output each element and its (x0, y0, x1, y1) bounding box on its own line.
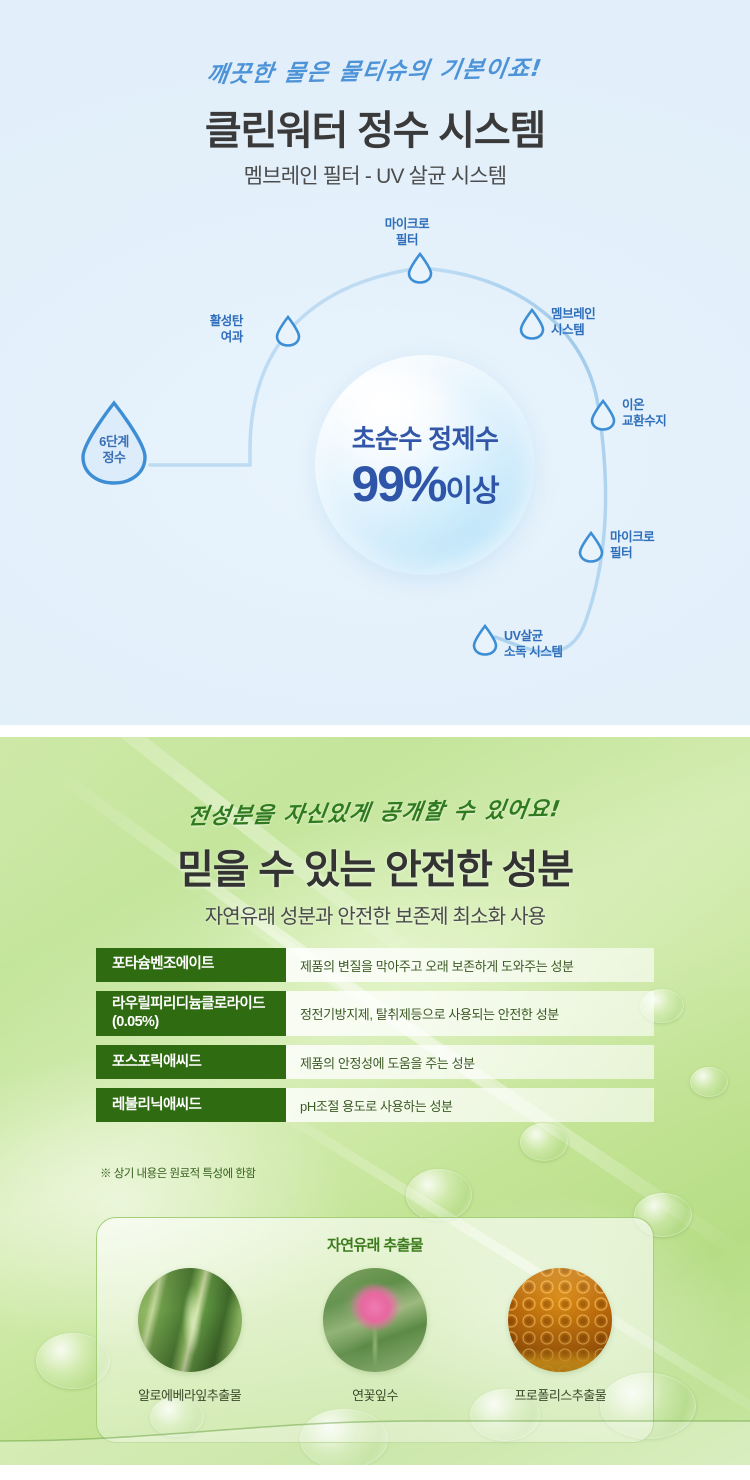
bottom-wave-decor (0, 1419, 750, 1465)
ingredient-description: 제품의 안정성에 도움을 주는 성분 (286, 1045, 654, 1079)
stage-label: 활성탄 여과 (210, 313, 243, 346)
water-section-title: 클린워터 정수 시스템 (0, 98, 750, 156)
ingredient-name: 라우릴피리디늄클로라이드 (0.05%) (96, 991, 286, 1036)
stage-label: 마이크로 필터 (610, 529, 654, 562)
safe-ingredients-section: 전성분을 자신있게 공개할 수 있어요! 믿을 수 있는 안전한 성분 자연유래… (0, 737, 750, 1465)
purity-bubble: 초순수 정제수 99%이상 (315, 355, 535, 575)
water-drop-icon (590, 399, 616, 431)
stage-label: UV살균 소독 시스템 (504, 628, 563, 661)
water-drop-icon (578, 531, 604, 563)
list-item: 프로폴리스추출물 (480, 1268, 640, 1404)
bubble-value-row: 99%이상 (351, 458, 498, 511)
water-drop-icon (275, 315, 301, 347)
ingredient-description: 제품의 변질을 막아주고 오래 보존하게 도와주는 성분 (286, 948, 654, 982)
water-drop-icon (407, 252, 433, 284)
natural-extract-list: 알로에베라잎추출물 연꽃잎수 프로폴리스추출물 (97, 1268, 653, 1404)
table-row: 레불리닉애씨드 pH조절 용도로 사용하는 성분 (96, 1088, 654, 1122)
table-row: 라우릴피리디늄클로라이드 (0.05%) 정전기방지제, 탈취제등으로 사용되는… (96, 991, 654, 1036)
aloe-leaf-image (138, 1268, 242, 1372)
six-stage-droplet-label: 6단계 정수 (78, 434, 150, 465)
ingredient-table: 포타슘벤조에이트 제품의 변질을 막아주고 오래 보존하게 도와주는 성분 라우… (96, 948, 654, 1131)
water-handwritten-tagline: 깨끗한 물은 물티슈의 기본이죠! (0, 45, 750, 93)
bubble-value-suffix: 이상 (445, 475, 498, 508)
water-drop-icon (472, 624, 498, 656)
ingredient-description: 정전기방지제, 탈취제등으로 사용되는 안전한 성분 (286, 991, 654, 1036)
ingredient-name: 포타슘벤조에이트 (96, 948, 286, 982)
extract-caption: 연꽃잎수 (295, 1385, 455, 1404)
extract-caption: 프로폴리스추출물 (480, 1385, 640, 1404)
green-section-title: 믿을 수 있는 안전한 성분 (0, 837, 750, 895)
ingredient-description: pH조절 용도로 사용하는 성분 (286, 1088, 654, 1122)
infographic-page: 깨끗한 물은 물티슈의 기본이죠! 클린워터 정수 시스템 멤브레인 필터 - … (0, 0, 750, 1480)
table-row: 포스포릭애씨드 제품의 안정성에 도움을 주는 성분 (96, 1045, 654, 1079)
ingredient-name: 포스포릭애씨드 (96, 1045, 286, 1079)
water-drop-icon (519, 308, 545, 340)
purification-flow-diagram: 초순수 정제수 99%이상 6단계 정수 (0, 205, 750, 710)
ingredient-table-note: ※ 상기 내용은 원료적 특성에 한함 (100, 1165, 256, 1181)
table-row: 포타슘벤조에이트 제품의 변질을 막아주고 오래 보존하게 도와주는 성분 (96, 948, 654, 982)
ingredient-name: 레불리닉애씨드 (96, 1088, 286, 1122)
bubble-value: 99% (351, 456, 445, 512)
clean-water-section: 깨끗한 물은 물티슈의 기본이죠! 클린워터 정수 시스템 멤브레인 필터 - … (0, 0, 750, 731)
stage-label: 마이크로 필터 (385, 216, 429, 249)
honeycomb-propolis-image (508, 1268, 612, 1372)
natural-extract-panel: 자연유래 추출물 알로에베라잎추출물 연꽃잎수 프로폴리스추출물 (96, 1217, 654, 1443)
list-item: 연꽃잎수 (295, 1268, 455, 1404)
green-section-subtitle: 자연유래 성분과 안전한 보존제 최소화 사용 (0, 900, 750, 929)
stage-label: 이온 교환수지 (622, 397, 666, 430)
extract-caption: 알로에베라잎추출물 (110, 1385, 270, 1404)
lotus-flower-image (323, 1268, 427, 1372)
bubble-label: 초순수 정제수 (352, 419, 499, 456)
six-stage-droplet: 6단계 정수 (78, 400, 150, 486)
list-item: 알로에베라잎추출물 (110, 1268, 270, 1404)
natural-extract-title: 자연유래 추출물 (97, 1234, 653, 1255)
water-section-subtitle: 멤브레인 필터 - UV 살균 시스템 (0, 160, 750, 190)
stage-label: 멤브레인 시스템 (551, 306, 595, 339)
